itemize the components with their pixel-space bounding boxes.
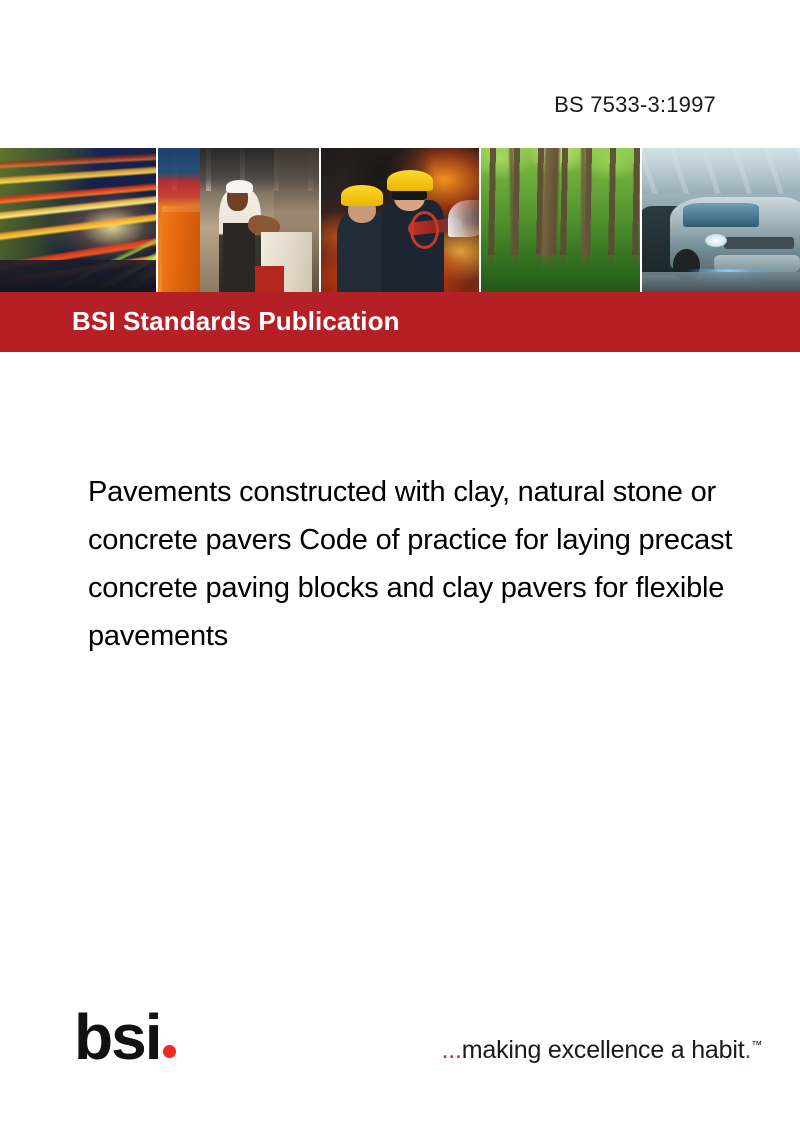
cover-photo-strip: [0, 148, 800, 292]
forest-floor-layer: [481, 255, 639, 292]
firefighter-visor-layer: [392, 190, 427, 200]
factory-floor-layer: [642, 272, 800, 292]
worker-cap-layer: [226, 180, 253, 193]
red-bin-layer: [255, 266, 284, 292]
orange-crate-layer: [162, 206, 200, 292]
page-title: Pavements constructed with clay, natural…: [88, 468, 788, 660]
photo-panel-traffic-light-trails: [0, 148, 158, 292]
trademark-icon: ™: [751, 1040, 762, 1052]
bsi-logo: bsi: [74, 1002, 176, 1064]
firefighter-rear-helmet-layer: [341, 185, 382, 205]
tagline-text: making excellence a habit: [462, 1036, 745, 1064]
road-layer: [0, 260, 156, 292]
photo-panel-firefighters: [321, 148, 481, 292]
factory-ceiling-lights-layer: [642, 148, 800, 194]
standards-publication-banner: BSI Standards Publication: [0, 292, 800, 352]
banner-title: BSI Standards Publication: [72, 306, 400, 337]
standard-number: BS 7533-3:1997: [554, 92, 716, 118]
tagline-leading-ellipsis: ...: [442, 1036, 462, 1064]
car-windscreen-layer: [683, 203, 759, 227]
worker-apron-layer: [223, 223, 255, 292]
bsi-logo-dot-icon: [163, 1045, 176, 1058]
firefighter-front-helmet-layer: [387, 170, 433, 192]
photo-panel-warehouse-worker: [158, 148, 320, 292]
bsi-standard-cover-page: { "document": { "standard_number": "BS 7…: [0, 0, 800, 1132]
water-spray-layer: [448, 200, 482, 237]
bsi-tagline: ...making excellence a habit.™: [442, 1036, 762, 1065]
photo-panel-forest: [481, 148, 641, 292]
car-grille-layer: [724, 237, 794, 249]
bsi-logo-wordmark: bsi: [74, 1010, 160, 1064]
firefighter-front-body-layer: [381, 200, 444, 292]
hose-valve-wheel-layer: [410, 211, 440, 249]
photo-panel-car-production-line: [642, 148, 800, 292]
